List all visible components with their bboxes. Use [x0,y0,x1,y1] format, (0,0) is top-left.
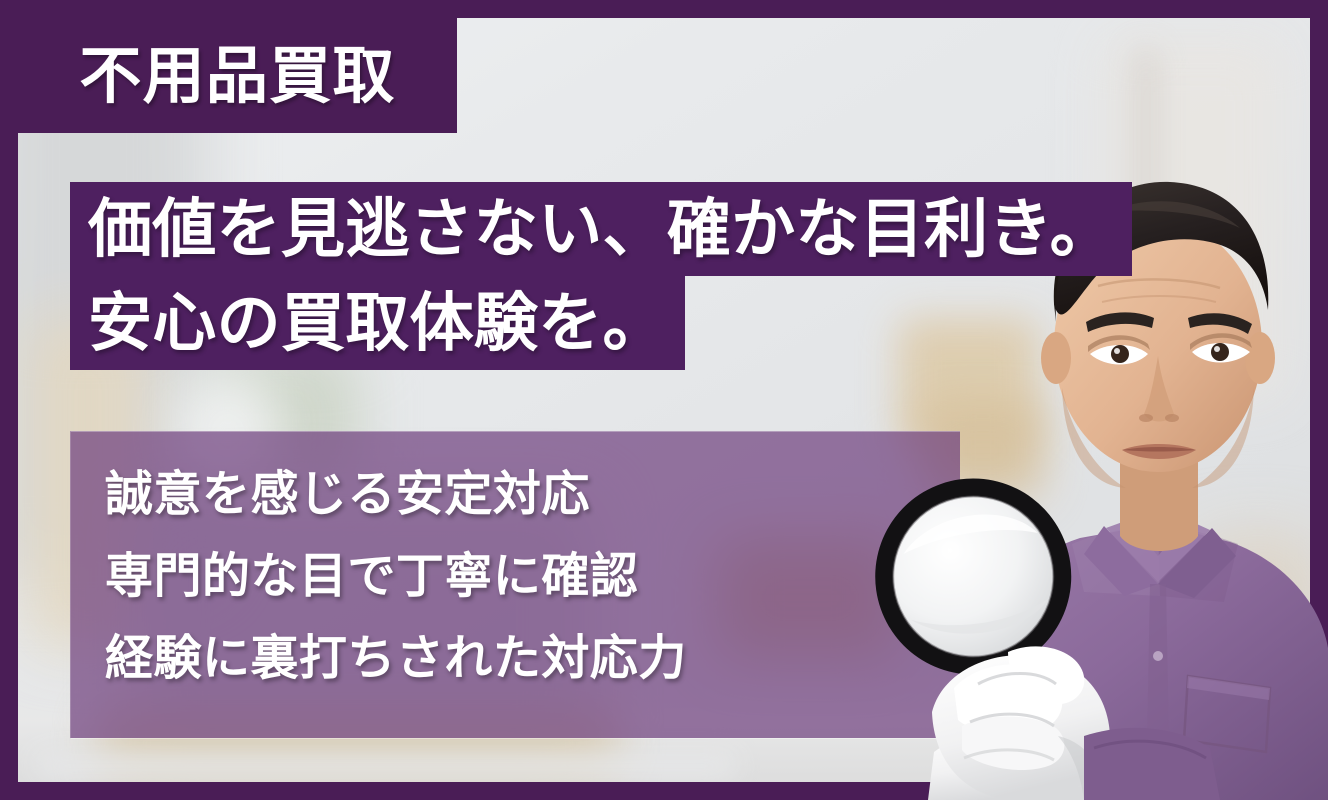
person-photo [858,36,1328,800]
category-badge: 不用品買取 [18,18,457,133]
background-floor-shape [36,753,736,779]
feature-line-1: 誠意を感じる安定対応 [105,470,960,518]
headline: 価値を見逃さない、確かな目利き。 安心の買取体験を。 [70,182,1132,370]
headline-line-1: 価値を見逃さない、確かな目利き。 [70,182,1132,276]
feature-line-3: 経験に裏打ちされた対応力 [105,634,960,682]
category-badge-label: 不用品買取 [79,45,395,107]
headline-line-2: 安心の買取体験を。 [70,276,685,370]
banner-root: 誠意を感じる安定対応 専門的な目で丁寧に確認 経験に裏打ちされた対応力 [0,0,1328,800]
feature-panel: 誠意を感じる安定対応 専門的な目で丁寧に確認 経験に裏打ちされた対応力 [70,431,960,738]
feature-line-2: 専門的な目で丁寧に確認 [105,552,960,600]
